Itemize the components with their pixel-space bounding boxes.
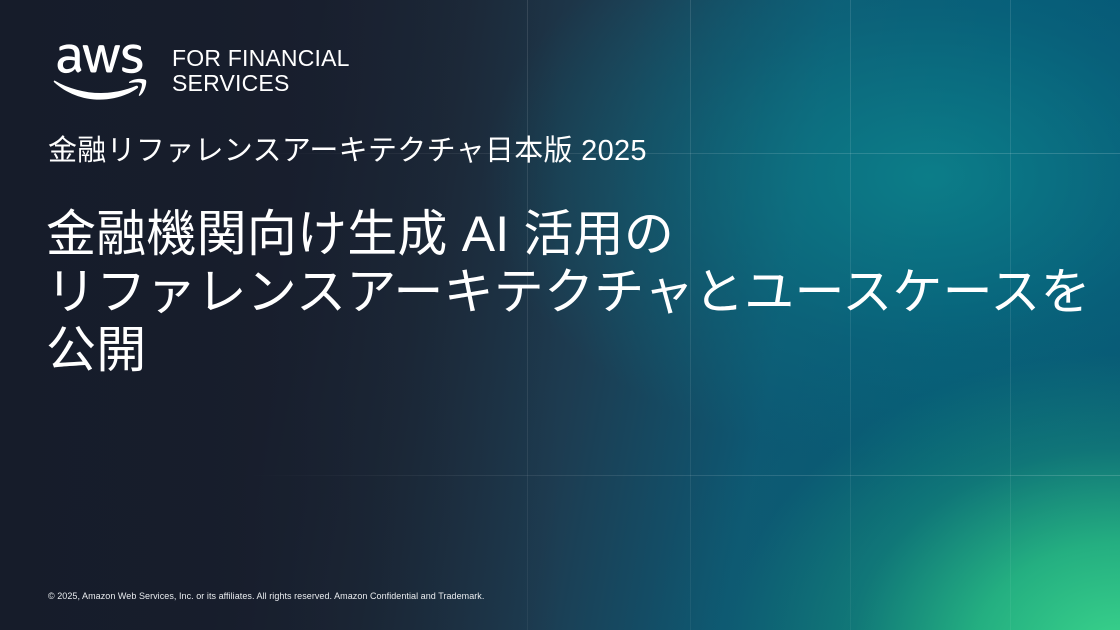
- aws-logo-lockup: FOR FINANCIAL SERVICES: [48, 44, 350, 100]
- lockup-text: FOR FINANCIAL SERVICES: [172, 44, 350, 96]
- grid-line-horizontal: [0, 475, 1120, 476]
- slide-title-line-3: 公開: [46, 321, 1086, 379]
- aws-smile-logo-icon: [48, 44, 152, 100]
- copyright-notice: © 2025, Amazon Web Services, Inc. or its…: [48, 590, 484, 602]
- presentation-slide: FOR FINANCIAL SERVICES 金融リファレンスアーキテクチャ日本…: [0, 0, 1120, 630]
- slide-title-line-2: リファレンスアーキテクチャとユースケースを: [46, 263, 1086, 321]
- lockup-line-2: SERVICES: [172, 71, 350, 96]
- slide-title: 金融機関向け生成 AI 活用の リファレンスアーキテクチャとユースケースを 公開: [46, 205, 1086, 379]
- lockup-line-1: FOR FINANCIAL: [172, 46, 350, 71]
- slide-title-line-1: 金融機関向け生成 AI 活用の: [46, 205, 1086, 263]
- slide-eyebrow: 金融リファレンスアーキテクチャ日本版 2025: [48, 132, 647, 170]
